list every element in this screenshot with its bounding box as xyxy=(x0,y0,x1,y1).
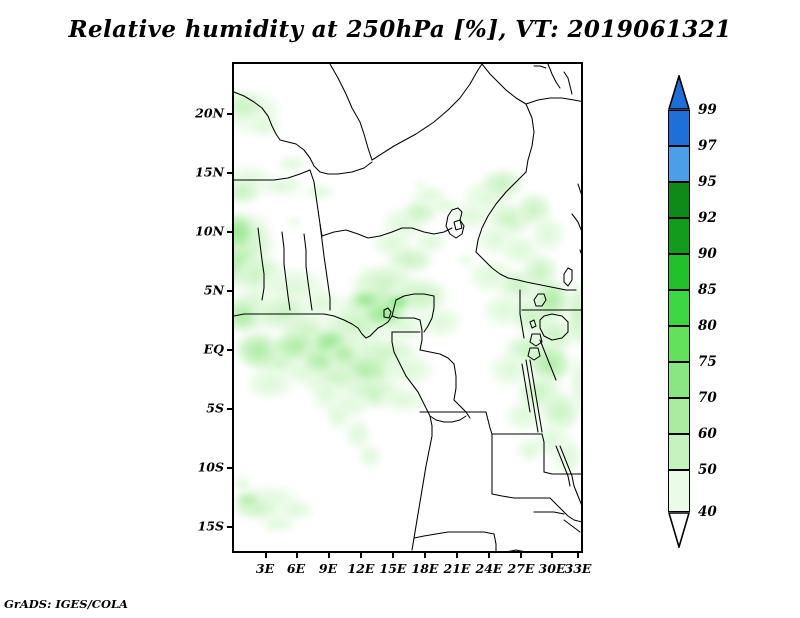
x-axis-label-15E: 15E xyxy=(380,561,407,576)
x-tick-15E xyxy=(392,553,394,558)
x-tick-12E xyxy=(360,553,362,558)
page-title: Relative humidity at 250hPa [%], VT: 201… xyxy=(0,16,800,43)
y-tick-20N xyxy=(227,113,232,115)
y-tick-5S xyxy=(227,408,232,410)
colorbar-segment-85-90 xyxy=(668,254,690,290)
y-axis-label-15N: 15N xyxy=(176,165,224,180)
y-axis-label-5N: 5N xyxy=(176,283,224,298)
y-tick-5N xyxy=(227,290,232,292)
grads-map-figure: Relative humidity at 250hPa [%], VT: 201… xyxy=(0,0,800,618)
x-axis-label-24E: 24E xyxy=(476,561,503,576)
colorbar-segment-60-70 xyxy=(668,398,690,434)
colorbar-label-60: 60 xyxy=(698,426,717,442)
colorbar-label-95: 95 xyxy=(698,174,717,190)
y-tick-EQ xyxy=(227,349,232,351)
colorbar-segment-97-99 xyxy=(668,110,690,146)
x-axis-label-21E: 21E xyxy=(444,561,471,576)
colorbar-segment-95-97 xyxy=(668,146,690,182)
x-tick-3E xyxy=(265,553,267,558)
colorbar-segment-50-60 xyxy=(668,434,690,470)
y-axis-label-5S: 5S xyxy=(176,401,224,416)
colorbar-label-99: 99 xyxy=(698,102,717,118)
colorbar-label-75: 75 xyxy=(698,354,717,370)
y-axis-label-20N: 20N xyxy=(176,106,224,121)
x-tick-30E xyxy=(551,553,553,558)
colorbar-label-97: 97 xyxy=(698,138,717,154)
y-axis-label-10N: 10N xyxy=(176,224,224,239)
y-axis-label-15S: 15S xyxy=(176,519,224,534)
x-tick-27E xyxy=(520,553,522,558)
x-tick-33E xyxy=(577,553,579,558)
colorbar-segment-90-92 xyxy=(668,218,690,254)
y-tick-15S xyxy=(227,526,232,528)
plot-frame xyxy=(232,62,583,553)
colorbar-label-50: 50 xyxy=(698,462,717,478)
colorbar: 99 97 95 92 90 85 80 75 70 60 50 40 xyxy=(668,75,690,545)
x-tick-24E xyxy=(488,553,490,558)
x-axis-label-30E: 30E xyxy=(539,561,566,576)
plot-area xyxy=(232,62,583,553)
x-tick-6E xyxy=(296,553,298,558)
colorbar-segment-75-80 xyxy=(668,326,690,362)
colorbar-label-80: 80 xyxy=(698,318,717,334)
grads-credit: GrADS: IGES/COLA xyxy=(4,597,128,611)
humidity-field-and-coastlines xyxy=(234,64,583,553)
colorbar-segment-92-95 xyxy=(668,182,690,218)
x-axis-label-18E: 18E xyxy=(412,561,439,576)
x-tick-9E xyxy=(328,553,330,558)
x-axis-label-33E: 33E xyxy=(565,561,592,576)
colorbar-label-92: 92 xyxy=(698,210,717,226)
colorbar-segment-70-75 xyxy=(668,362,690,398)
colorbar-label-90: 90 xyxy=(698,246,717,262)
x-axis-label-9E: 9E xyxy=(319,561,337,576)
y-tick-15N xyxy=(227,172,232,174)
colorbar-label-40: 40 xyxy=(698,504,717,520)
x-tick-21E xyxy=(456,553,458,558)
y-tick-10N xyxy=(227,231,232,233)
x-axis-label-6E: 6E xyxy=(287,561,305,576)
x-axis-label-3E: 3E xyxy=(256,561,274,576)
x-axis-label-12E: 12E xyxy=(348,561,375,576)
y-axis-label-10S: 10S xyxy=(176,460,224,475)
y-axis-label-EQ: EQ xyxy=(176,342,224,357)
colorbar-segment-40-50 xyxy=(668,470,690,512)
y-tick-10S xyxy=(227,467,232,469)
colorbar-label-85: 85 xyxy=(698,282,717,298)
x-tick-18E xyxy=(424,553,426,558)
colorbar-label-70: 70 xyxy=(698,390,717,406)
colorbar-top-arrow xyxy=(668,75,690,110)
colorbar-segment-80-85 xyxy=(668,290,690,326)
colorbar-bottom-arrow xyxy=(668,512,690,548)
x-axis-label-27E: 27E xyxy=(508,561,535,576)
